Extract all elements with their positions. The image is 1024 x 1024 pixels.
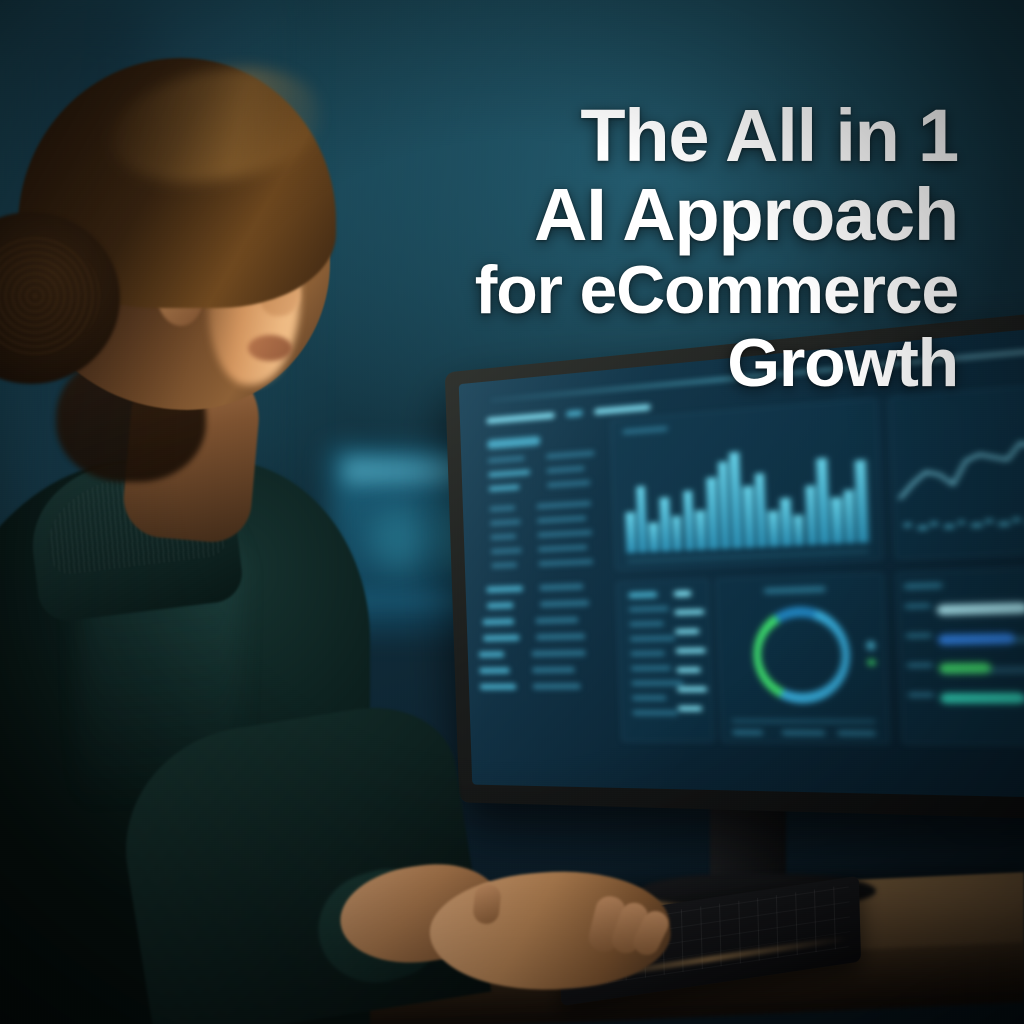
sidebar-item[interactable] — [479, 684, 516, 690]
line-chart-marker — [985, 518, 993, 523]
bar-chart-bar — [659, 497, 670, 551]
sidebar-value — [547, 480, 591, 489]
headline-line-4: Growth — [278, 327, 958, 400]
sidebar-item[interactable] — [488, 469, 531, 478]
metric-value — [675, 629, 699, 635]
sidebar-value — [539, 584, 583, 591]
sidebar-value — [531, 667, 575, 673]
sidebar-item[interactable] — [489, 505, 516, 512]
bar-chart-bar — [743, 485, 755, 547]
hbar — [939, 663, 990, 674]
bar-chart-bar — [672, 515, 683, 551]
bar-chart-bar — [718, 461, 731, 549]
sidebar-item[interactable] — [478, 651, 504, 657]
sidebar-value — [537, 515, 586, 523]
bar-chart-bar — [793, 515, 804, 546]
line-chart-marker — [971, 522, 982, 528]
sidebar-item[interactable] — [479, 668, 511, 674]
sidebar-logo — [486, 412, 555, 424]
donut-legend-item — [732, 730, 762, 735]
bar-chart-bar — [649, 522, 659, 552]
sidebar-item[interactable] — [486, 586, 523, 593]
donut-legend-item — [781, 730, 825, 736]
line-chart-marker — [999, 521, 1010, 527]
bar-chart-bar — [683, 490, 695, 550]
metric-row — [632, 696, 667, 701]
headline-line-1: The All in 1 — [278, 96, 958, 175]
line-chart-marker — [930, 521, 938, 526]
sidebar-value — [538, 529, 593, 537]
bar-chart-bar — [768, 511, 779, 547]
donut-legend-item — [837, 730, 876, 736]
hbar-label — [907, 692, 934, 698]
bar-chart-bar — [625, 512, 636, 553]
sidebar-value — [538, 544, 587, 552]
bar-chart-bar — [843, 489, 855, 543]
line-chart-marker — [917, 525, 928, 530]
sidebar-item[interactable] — [488, 484, 520, 492]
sidebar-item[interactable] — [490, 533, 517, 540]
sidebar-value — [540, 600, 589, 607]
metric-row — [630, 651, 665, 657]
donut-chart — [752, 606, 852, 704]
donut-side-indicator — [866, 641, 875, 651]
sidebar-item[interactable] — [482, 619, 514, 625]
bar-chart-bar — [805, 486, 817, 545]
sidebar-item[interactable] — [487, 603, 514, 609]
hbar — [937, 602, 1024, 615]
line-chart-marker — [904, 522, 911, 527]
hbar — [938, 633, 1015, 645]
hbar — [940, 693, 1024, 704]
metric-row — [630, 636, 676, 642]
metric-row — [631, 681, 683, 686]
sidebar-badge-icon — [566, 410, 583, 418]
metric-value — [676, 648, 706, 654]
metric-row — [629, 621, 664, 627]
donut-side-indicator-green — [867, 659, 876, 666]
metric-value — [675, 610, 705, 616]
donut-divider — [732, 719, 876, 723]
hbar-label — [905, 633, 932, 639]
bar-chart-bar — [695, 510, 706, 550]
sidebar-value — [536, 634, 585, 641]
line-chart — [897, 412, 1024, 513]
bar-chart-bar — [706, 478, 718, 550]
metric-row — [631, 666, 671, 672]
hbar-label — [904, 603, 931, 609]
metric-value — [677, 668, 701, 673]
metric-row — [632, 710, 678, 715]
sidebar-value — [546, 450, 596, 459]
sidebar-item[interactable] — [491, 562, 518, 568]
sidebar-item[interactable] — [487, 455, 524, 463]
metric-value — [678, 706, 702, 711]
bar-chart-bar — [636, 486, 648, 552]
headline-line-2: AI Approach — [278, 175, 958, 254]
sidebar-value — [539, 558, 594, 566]
donut-ring — [752, 606, 852, 704]
bar-chart — [623, 439, 868, 553]
page-title: The All in 1 AI Approach for eCommerce G… — [278, 96, 958, 400]
metric-value — [678, 687, 708, 692]
hbar-label — [906, 663, 933, 669]
bar-chart-bar — [817, 458, 830, 544]
sidebar-item[interactable] — [490, 547, 522, 554]
metrics-column-panel[interactable] — [616, 579, 714, 742]
headline-line-3: for eCommerce — [278, 254, 958, 327]
sidebar-value — [537, 500, 592, 509]
bar-chart-bar — [780, 497, 792, 546]
horizontal-bars — [937, 595, 1024, 717]
bar-chart-bar — [729, 452, 742, 548]
sidebar-item[interactable] — [489, 519, 521, 526]
sidebar-value — [531, 650, 586, 657]
sidebar-item[interactable] — [483, 635, 520, 641]
line-chart-marker — [1012, 517, 1020, 522]
poster-canvas: The All in 1 AI Approach for eCommerce G… — [0, 0, 1024, 1024]
line-chart-path — [897, 428, 1024, 498]
bar-chart-bar — [754, 473, 767, 548]
sidebar-value — [532, 683, 581, 689]
hbars-title — [903, 582, 943, 589]
sidebar-title — [594, 404, 651, 415]
sidebar-value — [546, 465, 584, 473]
bar-chart-bar — [831, 497, 843, 543]
sidebar-item[interactable] — [487, 436, 540, 449]
sidebar-value — [535, 617, 579, 624]
metric-label — [628, 592, 657, 598]
metric-value — [674, 591, 692, 597]
